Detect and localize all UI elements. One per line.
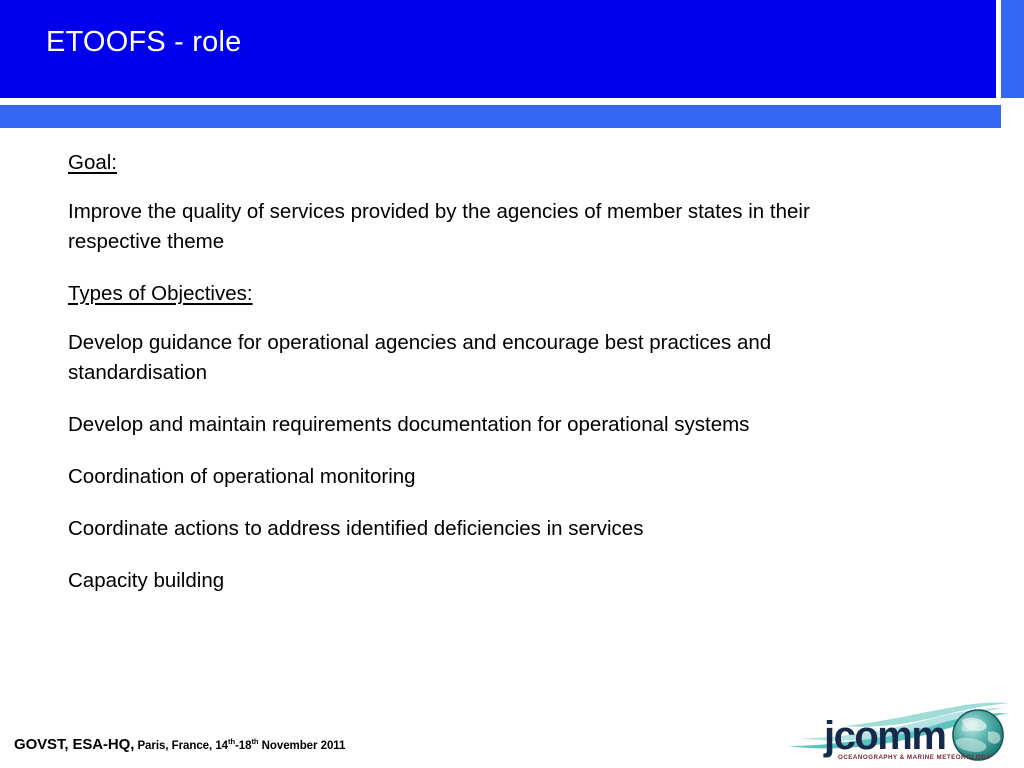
slide-footer: GOVST, ESA-HQ, Paris, France, 14th-18th … [14,736,345,754]
content-paragraph-capacity-building: Capacity building [68,566,898,596]
header-accent-bar [0,105,1001,128]
footer-details-mid: -18 [235,740,251,752]
footer-details-suffix: November 2011 [258,740,345,752]
content-heading-types-of-objectives: Types of Objectives: [68,279,898,309]
jcomm-logo: jcomm OCEANOGRAPHY & MARINE METEOROLOGY [786,702,1018,764]
footer-venue-label: GOVST, ESA-HQ, [14,736,134,753]
page-title: ETOOFS - role [46,24,241,60]
content-paragraph-develop-guidance: Develop guidance for operational agencie… [68,328,898,388]
logo-tagline: OCEANOGRAPHY & MARINE METEOROLOGY [838,754,991,761]
slide-header-bar: ETOOFS - role [0,0,996,98]
footer-ordinal-first: th [228,737,235,746]
header-corner-accent [1001,0,1024,98]
content-heading-goal: Goal: [68,148,898,178]
content-paragraph-develop-maintain: Develop and maintain requirements docume… [68,410,898,440]
footer-details-label: Paris, France, 14th-18th November 2011 [134,740,345,752]
content-paragraph-coordinate-actions: Coordinate actions to address identified… [68,514,898,544]
logo-wordmark: jcomm [823,714,945,758]
content-paragraph-goal: Improve the quality of services provided… [68,197,898,257]
footer-details-prefix: Paris, France, 14 [134,740,228,752]
content-paragraph-coordination-monitoring: Coordination of operational monitoring [68,462,898,492]
slide-content: Goal: Improve the quality of services pr… [68,148,898,618]
jcomm-logo-artwork: jcomm OCEANOGRAPHY & MARINE METEOROLOGY [786,702,1018,764]
